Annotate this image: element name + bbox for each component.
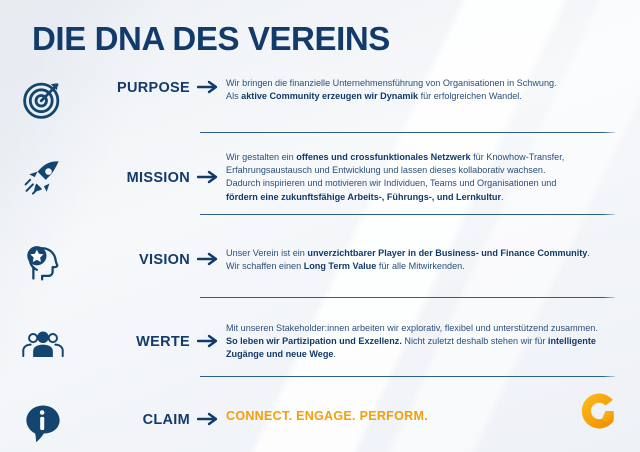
row-werte: WERTE Mit unseren Stakeholder:innen arbe… [0,308,640,388]
arrow-icon-mission [190,146,226,184]
arrow-icon-purpose [190,76,226,94]
icon-cell-purpose [0,76,86,120]
row-label-claim: CLAIM [86,400,190,428]
row-label-werte: WERTE [86,316,190,350]
row-divider-mission [200,214,615,215]
infographic-poster: DIE DNA DES VEREINS PURPOSE [0,0,640,452]
target-arrow-icon [22,78,64,120]
icon-cell-mission [0,146,86,200]
c-mark-logo [576,388,622,434]
row-divider-purpose [200,132,615,133]
row-text-purpose: Wir bringen die finanzielle Unternehmens… [226,76,640,103]
row-divider-werte [200,376,615,377]
row-text-mission: Wir gestalten ein offenes und crossfunkt… [226,146,640,204]
icon-cell-werte [0,316,86,362]
row-text-werte: Mit unseren Stakeholder:innen arbeiten w… [226,316,640,362]
arrow-icon-claim [190,400,226,426]
arrow-icon-vision [190,236,226,266]
row-label-purpose: PURPOSE [86,76,190,96]
row-mission: MISSION Wir gestalten ein offenes und cr… [0,136,640,228]
icon-cell-claim [0,400,86,444]
icon-cell-vision [0,236,86,282]
row-vision: VISION Unser Verein ist ein unverzichtba… [0,228,640,308]
row-purpose: PURPOSE Wir bringen die finanzielle Unte… [0,76,640,136]
rocket-icon [21,156,65,200]
row-text-vision: Unser Verein ist ein unverzichtbarer Pla… [226,236,640,273]
arrow-icon-werte [190,316,226,348]
row-label-vision: VISION [86,236,190,268]
dna-rows: PURPOSE Wir bringen die finanzielle Unte… [0,76,640,452]
row-label-mission: MISSION [86,146,190,186]
people-group-icon [20,324,66,362]
info-bubble-icon [23,402,63,444]
page-title: DIE DNA DES VEREINS [32,22,390,55]
row-divider-vision [200,297,615,298]
head-star-idea-icon [22,240,64,282]
row-claim: CLAIM CONNECT. ENGAGE. PERFORM. [0,388,640,452]
